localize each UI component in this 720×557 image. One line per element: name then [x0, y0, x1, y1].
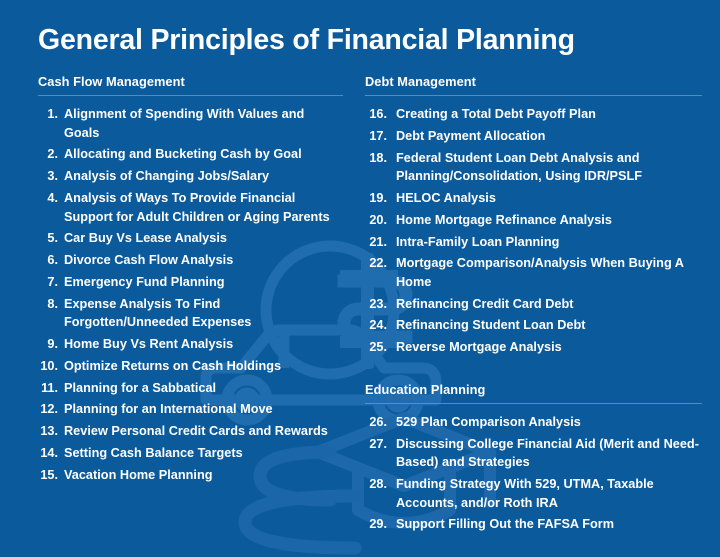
list-item-number: 13.	[38, 422, 58, 441]
list-item-label: Refinancing Student Loan Debt	[396, 316, 702, 335]
list-item-number: 26.	[365, 413, 387, 432]
list-item[interactable]: 24. Refinancing Student Loan Debt	[365, 316, 702, 335]
list-item-label: HELOC Analysis	[396, 189, 702, 208]
section-debt-management: Debt Management 16. Creating a Total Deb…	[365, 74, 702, 357]
list-item[interactable]: 25. Reverse Mortgage Analysis	[365, 338, 702, 357]
list-item-label: Analysis of Changing Jobs/Salary	[64, 167, 343, 186]
list-item[interactable]: 6. Divorce Cash Flow Analysis	[38, 251, 343, 270]
list-item-number: 25.	[365, 338, 387, 357]
list-item-label: Home Buy Vs Rent Analysis	[64, 335, 343, 354]
section-divider	[365, 95, 702, 96]
list-item-label: Car Buy Vs Lease Analysis	[64, 229, 343, 248]
list-item[interactable]: 16. Creating a Total Debt Payoff Plan	[365, 105, 702, 124]
list-item[interactable]: 2. Allocating and Bucketing Cash by Goal	[38, 145, 343, 164]
list-item-label: 529 Plan Comparison Analysis	[396, 413, 702, 432]
list-item[interactable]: 13. Review Personal Credit Cards and Rew…	[38, 422, 343, 441]
list-item[interactable]: 26. 529 Plan Comparison Analysis	[365, 413, 702, 432]
list-item-number: 19.	[365, 189, 387, 208]
list-item[interactable]: 3. Analysis of Changing Jobs/Salary	[38, 167, 343, 186]
list-item-label: Debt Payment Allocation	[396, 127, 702, 146]
list-item-label: Intra-Family Loan Planning	[396, 233, 702, 252]
column-left: Cash Flow Management 1. Alignment of Spe…	[0, 74, 365, 537]
list-item-label: Planning for an International Move	[64, 400, 343, 419]
list-item-number: 1.	[38, 105, 58, 124]
list-item-number: 10.	[38, 357, 58, 376]
list-item-number: 4.	[38, 189, 58, 208]
section-education-planning: Education Planning 26. 529 Plan Comparis…	[365, 382, 702, 534]
list-item-label: Funding Strategy With 529, UTMA, Taxable…	[396, 475, 702, 512]
list-item-number: 3.	[38, 167, 58, 186]
list-item[interactable]: 7. Emergency Fund Planning	[38, 273, 343, 292]
list-item-label: Divorce Cash Flow Analysis	[64, 251, 343, 270]
list-item-label: Federal Student Loan Debt Analysis and P…	[396, 149, 702, 186]
list-item-label: Optimize Returns on Cash Holdings	[64, 357, 343, 376]
list-item[interactable]: 19. HELOC Analysis	[365, 189, 702, 208]
list-item[interactable]: 28. Funding Strategy With 529, UTMA, Tax…	[365, 475, 702, 512]
list-item-label: Vacation Home Planning	[64, 466, 343, 485]
list-item[interactable]: 20. Home Mortgage Refinance Analysis	[365, 211, 702, 230]
list-item-label: Alignment of Spending With Values and Go…	[64, 105, 343, 142]
list-item[interactable]: 5. Car Buy Vs Lease Analysis	[38, 229, 343, 248]
list-item[interactable]: 8. Expense Analysis To Find Forgotten/Un…	[38, 295, 343, 332]
list-item-number: 7.	[38, 273, 58, 292]
list-item-number: 11.	[38, 379, 58, 398]
list-item[interactable]: 10. Optimize Returns on Cash Holdings	[38, 357, 343, 376]
section-header-debt-management: Debt Management	[365, 74, 702, 89]
list-item[interactable]: 14. Setting Cash Balance Targets	[38, 444, 343, 463]
list-item-label: Home Mortgage Refinance Analysis	[396, 211, 702, 230]
list-item-number: 5.	[38, 229, 58, 248]
list-item-label: Support Filling Out the FAFSA Form	[396, 515, 702, 534]
list-item-label: Analysis of Ways To Provide Financial Su…	[64, 189, 343, 226]
list-item-number: 8.	[38, 295, 58, 314]
list-item-number: 12.	[38, 400, 58, 419]
list-item-label: Planning for a Sabbatical	[64, 379, 343, 398]
list-item-label: Allocating and Bucketing Cash by Goal	[64, 145, 343, 164]
list-item[interactable]: 11. Planning for a Sabbatical	[38, 379, 343, 398]
list-item[interactable]: 21. Intra-Family Loan Planning	[365, 233, 702, 252]
list-item[interactable]: 15. Vacation Home Planning	[38, 466, 343, 485]
list-item-number: 28.	[365, 475, 387, 494]
list-item-number: 21.	[365, 233, 387, 252]
list-item-number: 16.	[365, 105, 387, 124]
list-item-number: 23.	[365, 295, 387, 314]
list-item[interactable]: 29. Support Filling Out the FAFSA Form	[365, 515, 702, 534]
list-education-planning: 26. 529 Plan Comparison Analysis 27. Dis…	[365, 413, 702, 534]
poster-root: General Principles of Financial Planning…	[0, 0, 720, 557]
list-item[interactable]: 18. Federal Student Loan Debt Analysis a…	[365, 149, 702, 186]
list-item-number: 27.	[365, 435, 387, 454]
column-right: Debt Management 16. Creating a Total Deb…	[365, 74, 720, 537]
section-divider	[365, 403, 702, 404]
list-item[interactable]: 23. Refinancing Credit Card Debt	[365, 295, 702, 314]
list-item[interactable]: 12. Planning for an International Move	[38, 400, 343, 419]
list-item-number: 20.	[365, 211, 387, 230]
list-cash-flow-management: 1. Alignment of Spending With Values and…	[38, 105, 343, 484]
list-item-number: 15.	[38, 466, 58, 485]
list-item-label: Expense Analysis To Find Forgotten/Unnee…	[64, 295, 343, 332]
section-cash-flow-management: Cash Flow Management 1. Alignment of Spe…	[38, 74, 343, 484]
list-item-number: 14.	[38, 444, 58, 463]
list-item[interactable]: 9. Home Buy Vs Rent Analysis	[38, 335, 343, 354]
list-item-number: 6.	[38, 251, 58, 270]
list-item-label: Review Personal Credit Cards and Rewards	[64, 422, 343, 441]
list-item-number: 24.	[365, 316, 387, 335]
list-item-label: Discussing College Financial Aid (Merit …	[396, 435, 702, 472]
list-item-label: Creating a Total Debt Payoff Plan	[396, 105, 702, 124]
list-item-label: Reverse Mortgage Analysis	[396, 338, 702, 357]
list-item[interactable]: 22. Mortgage Comparison/Analysis When Bu…	[365, 254, 702, 291]
list-item-label: Emergency Fund Planning	[64, 273, 343, 292]
list-item-number: 17.	[365, 127, 387, 146]
list-item-label: Mortgage Comparison/Analysis When Buying…	[396, 254, 702, 291]
section-divider	[38, 95, 343, 96]
list-item-number: 9.	[38, 335, 58, 354]
list-item[interactable]: 1. Alignment of Spending With Values and…	[38, 105, 343, 142]
columns-wrapper: Cash Flow Management 1. Alignment of Spe…	[0, 74, 720, 537]
list-item[interactable]: 4. Analysis of Ways To Provide Financial…	[38, 189, 343, 226]
list-item-number: 18.	[365, 149, 387, 168]
list-item-label: Refinancing Credit Card Debt	[396, 295, 702, 314]
list-item-number: 22.	[365, 254, 387, 273]
list-item-number: 29.	[365, 515, 387, 534]
section-header-education-planning: Education Planning	[365, 382, 702, 397]
list-item[interactable]: 17. Debt Payment Allocation	[365, 127, 702, 146]
list-item[interactable]: 27. Discussing College Financial Aid (Me…	[365, 435, 702, 472]
list-item-label: Setting Cash Balance Targets	[64, 444, 343, 463]
list-item-number: 2.	[38, 145, 58, 164]
page-title: General Principles of Financial Planning	[38, 25, 575, 56]
section-header-cash-flow-management: Cash Flow Management	[38, 74, 343, 89]
list-debt-management: 16. Creating a Total Debt Payoff Plan 17…	[365, 105, 702, 357]
